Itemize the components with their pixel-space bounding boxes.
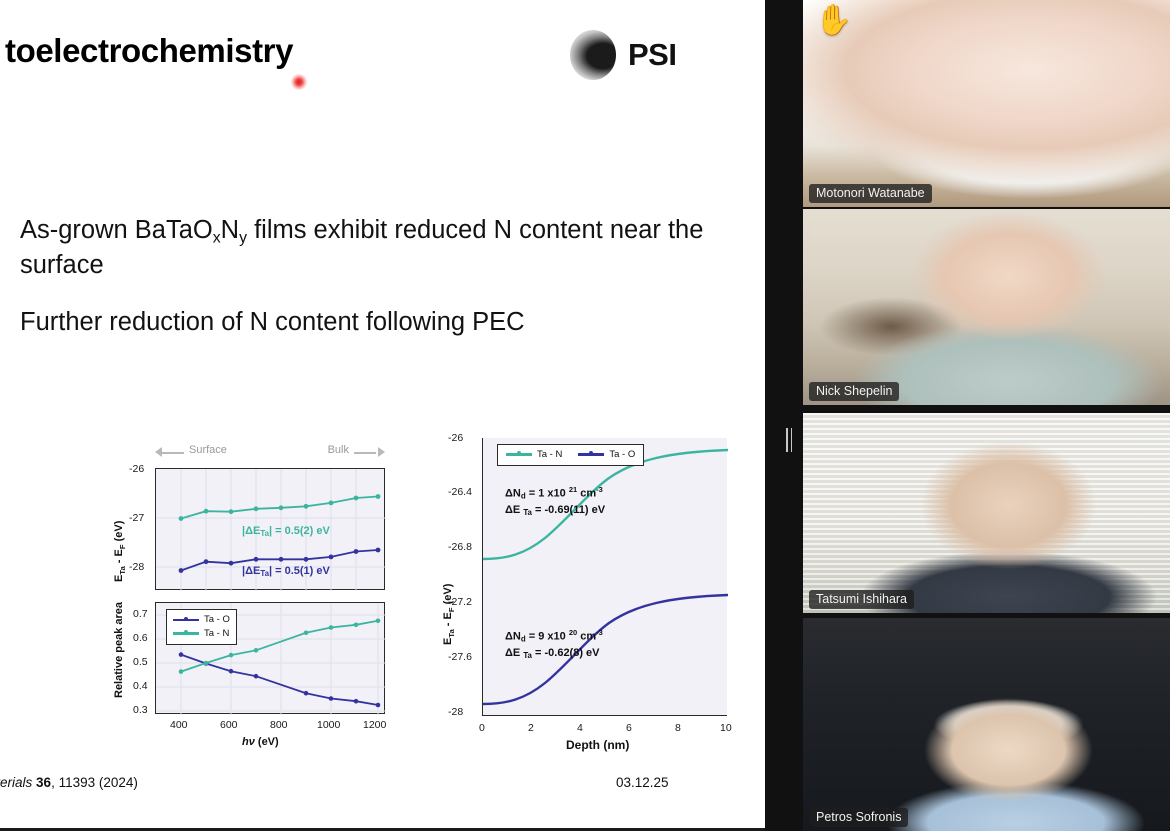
surface-arrow-head-icon bbox=[155, 447, 162, 457]
psi-wordmark: PSI bbox=[628, 37, 676, 73]
legend-swatch-ta-n bbox=[506, 453, 532, 456]
figB-xtick-800: 800 bbox=[270, 719, 288, 731]
figB-ylabel-binding-energy: ETa - EF (eV) bbox=[113, 521, 127, 582]
raised-hand-icon: ✋ bbox=[815, 6, 852, 36]
bulk-label: Bulk bbox=[328, 444, 349, 456]
figC-xtick-0: 0 bbox=[479, 722, 485, 734]
figB-ytick--27: -27 bbox=[129, 512, 144, 524]
participant-name-label: Nick Shepelin bbox=[809, 382, 899, 401]
annotation-nd-ta-o: ΔNd = 9 x10 20 cm-3 bbox=[505, 628, 603, 644]
figC-ytick--260: -26 bbox=[448, 432, 463, 444]
figB-xtick-400: 400 bbox=[170, 719, 188, 731]
figB-ytick--28: -28 bbox=[129, 561, 144, 573]
shared-slide-area[interactable]: toelectrochemistry PSI As-grown BaTaOxNy… bbox=[0, 0, 765, 831]
slide-bullet-2: Further reduction of N content following… bbox=[20, 306, 720, 339]
participant-name-label: Tatsumi Ishihara bbox=[809, 590, 914, 609]
figC-xtick-8: 8 bbox=[675, 722, 681, 734]
annotation-nd-ta-n: ΔNd = 1 x10 21 cm-3 bbox=[505, 485, 603, 501]
legend-label-ta-o: Ta - O bbox=[204, 613, 230, 627]
bullet1-part2: N bbox=[221, 216, 239, 244]
surface-label: Surface bbox=[189, 444, 227, 456]
slide-body: As-grown BaTaOxNy films exhibit reduced … bbox=[20, 214, 720, 339]
figB-ytick--26: -26 bbox=[129, 463, 144, 475]
legend-swatch-ta-n bbox=[173, 632, 199, 635]
handle-bar-2 bbox=[791, 428, 793, 452]
handle-bar-1 bbox=[786, 428, 788, 452]
figC-ylabel-binding-energy: ETa - EF (eV) bbox=[442, 584, 456, 645]
figC-ytick--268: -26.8 bbox=[448, 541, 472, 553]
figC-xtick-6: 6 bbox=[626, 722, 632, 734]
panel-resize-handle[interactable] bbox=[786, 428, 794, 452]
figB2-ytick-07: 0.7 bbox=[133, 608, 148, 620]
bullet1-sub-y: y bbox=[239, 229, 247, 246]
participant-name-label: Petros Sofronis bbox=[809, 808, 908, 827]
figC-ytick--276: -27.6 bbox=[448, 651, 472, 663]
citation-volume: 36 bbox=[36, 775, 51, 790]
participant-tile-petros-sofronis[interactable]: Petros Sofronis bbox=[803, 618, 1170, 831]
legend-swatch-ta-o bbox=[173, 619, 199, 622]
figC-xtick-10: 10 bbox=[720, 722, 732, 734]
figure-ta4f-spectrum: Ta 4f bbox=[0, 460, 60, 750]
legend-swatch-ta-o bbox=[578, 453, 604, 456]
bullet1-sub-x: x bbox=[213, 229, 221, 246]
participant-video-feed bbox=[803, 618, 1170, 831]
annotation-e-ta-o: ΔE Ta = -0.62(8) eV bbox=[505, 647, 600, 660]
laser-pointer-dot bbox=[291, 74, 307, 90]
figure-band-bending-depth: ETa - EF (eV) Ta - N bbox=[420, 430, 750, 760]
figB-xtick-1200: 1200 bbox=[363, 719, 386, 731]
surface-bulk-direction: Surface Bulk bbox=[155, 444, 385, 462]
legend-item-ta-o: Ta - O bbox=[578, 448, 635, 462]
psi-dot-mark-icon bbox=[570, 30, 616, 80]
participant-name-label: Motonori Watanabe bbox=[809, 184, 932, 203]
legend-label-ta-n: Ta - N bbox=[537, 448, 562, 462]
figC-xtick-4: 4 bbox=[577, 722, 583, 734]
legend-item-ta-n: Ta - N bbox=[173, 627, 230, 641]
citation-pages: , 11393 (2024) bbox=[51, 775, 138, 790]
legend-item-ta-o: Ta - O bbox=[173, 613, 230, 627]
participant-video-feed bbox=[803, 209, 1170, 405]
bulk-arrow-head-icon bbox=[378, 447, 385, 457]
slide-footer-citation: f Materials 36, 11393 (2024) bbox=[0, 775, 138, 790]
surface-arrow-line bbox=[162, 452, 184, 454]
bullet1-part1: As-grown BaTaO bbox=[20, 216, 213, 244]
annotation-delta-e-ta-n: |ΔETa| = 0.5(2) eV bbox=[242, 525, 330, 538]
participant-tile-motonori-watanabe[interactable]: ✋ Motonori Watanabe bbox=[803, 0, 1170, 207]
psi-logo: PSI bbox=[570, 30, 676, 80]
relative-peak-area-panel: Ta - O Ta - N bbox=[155, 602, 385, 714]
figB-xtick-1000: 1000 bbox=[317, 719, 340, 731]
participant-video-rail: ✋ Motonori Watanabe Nick Shepelin Tatsum… bbox=[765, 0, 1170, 831]
figB2-ytick-05: 0.5 bbox=[133, 656, 148, 668]
figC-xtick-2: 2 bbox=[528, 722, 534, 734]
participant-tile-nick-shepelin[interactable]: Nick Shepelin bbox=[803, 209, 1170, 405]
figB2-ytick-06: 0.6 bbox=[133, 632, 148, 644]
slide-footer-date: 03.12.25 bbox=[616, 775, 669, 790]
figure-binding-energy-and-peak-area: Surface Bulk ETa - EF (eV) bbox=[95, 430, 395, 760]
bulk-arrow-line bbox=[354, 452, 376, 454]
slide-figures: Ta 4f bbox=[0, 430, 765, 760]
binding-energy-panel: |ΔETa| = 0.5(2) eV |ΔETa| = 0.5(1) eV bbox=[155, 468, 385, 590]
participant-tile-tatsumi-ishihara[interactable]: Tatsumi Ishihara bbox=[803, 413, 1170, 613]
figB-xtick-600: 600 bbox=[220, 719, 238, 731]
figB-legend: Ta - O Ta - N bbox=[166, 609, 237, 645]
annotation-delta-e-ta-o: |ΔETa| = 0.5(1) eV bbox=[242, 565, 330, 578]
figB2-ytick-03: 0.3 bbox=[133, 704, 148, 716]
band-bending-plot bbox=[483, 438, 728, 716]
slide-title: toelectrochemistry bbox=[5, 32, 293, 70]
figC-ytick--272: -27.2 bbox=[448, 596, 472, 608]
figB-xlabel-photon-energy: hν (eV) bbox=[242, 736, 279, 748]
figC-ytick--264: -26.4 bbox=[448, 486, 472, 498]
band-bending-panel: Ta - N Ta - O ΔNd = 1 x10 21 cm-3 ΔE Ta … bbox=[482, 438, 727, 716]
annotation-e-ta-n: ΔE Ta = -0.69(11) eV bbox=[505, 504, 605, 517]
citation-journal: f Materials bbox=[0, 775, 36, 790]
slide-bullet-1: As-grown BaTaOxNy films exhibit reduced … bbox=[20, 214, 720, 282]
participant-video-feed bbox=[803, 0, 1170, 207]
figB2-ytick-04: 0.4 bbox=[133, 680, 148, 692]
legend-item-ta-n: Ta - N bbox=[506, 448, 562, 462]
participant-video-feed bbox=[803, 413, 1170, 613]
slide-canvas: toelectrochemistry PSI As-grown BaTaOxNy… bbox=[0, 0, 765, 828]
figC-xlabel-depth: Depth (nm) bbox=[566, 738, 629, 752]
figB-ylabel-relative-peak-area: Relative peak area bbox=[113, 602, 125, 698]
meeting-screenshare-window: toelectrochemistry PSI As-grown BaTaOxNy… bbox=[0, 0, 1170, 831]
figC-legend: Ta - N Ta - O bbox=[497, 444, 644, 466]
legend-label-ta-o: Ta - O bbox=[609, 448, 635, 462]
figC-ytick--280: -28 bbox=[448, 706, 463, 718]
legend-label-ta-n: Ta - N bbox=[204, 627, 229, 641]
